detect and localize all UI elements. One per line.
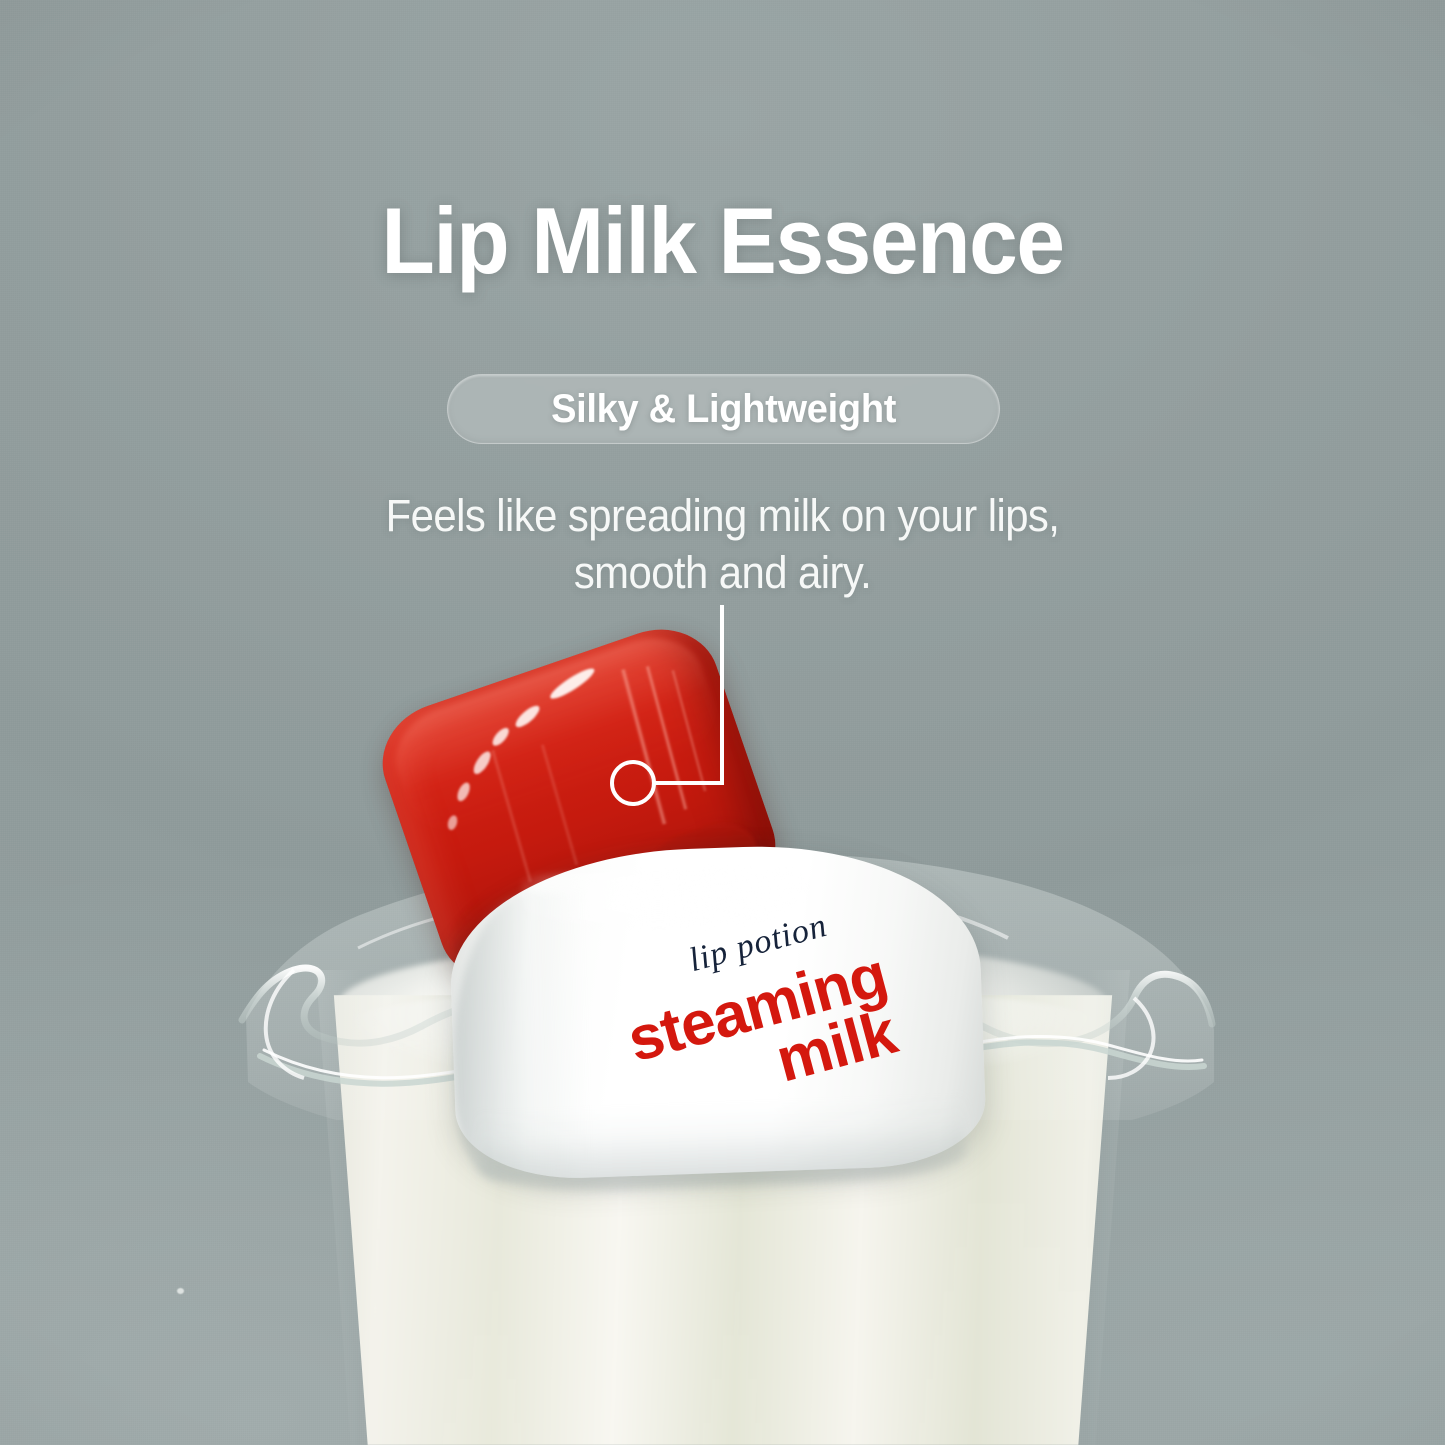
description-text: Feels like spreading milk on your lips, … bbox=[51, 488, 1395, 601]
dust-speck bbox=[177, 1288, 184, 1294]
product-tube: lip potion steaming milk bbox=[446, 839, 987, 1182]
callout-annotation bbox=[600, 595, 760, 820]
description-line-1: Feels like spreading milk on your lips, bbox=[386, 490, 1060, 541]
feature-badge-label: Silky & Lightweight bbox=[551, 387, 896, 432]
product-marketing-image: Lip Milk Essence Silky & Lightweight Fee… bbox=[0, 0, 1445, 1445]
feature-badge: Silky & Lightweight bbox=[447, 374, 1000, 444]
callout-leader-line bbox=[654, 607, 722, 783]
page-title: Lip Milk Essence bbox=[51, 194, 1395, 288]
callout-circle-icon bbox=[612, 762, 654, 804]
description-line-2: smooth and airy. bbox=[51, 545, 1395, 602]
